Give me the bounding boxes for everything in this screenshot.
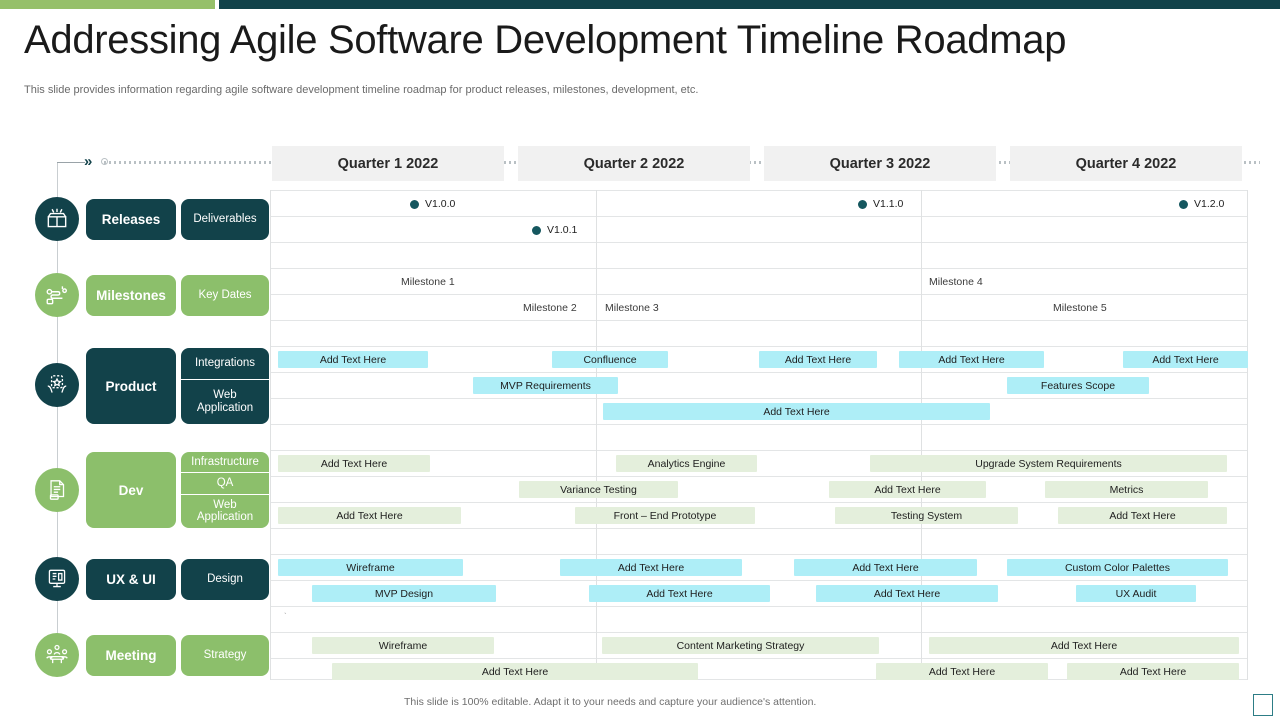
release-version-label: V1.2.0	[1194, 198, 1224, 210]
corner-placeholder-box[interactable]	[1253, 694, 1273, 716]
grid-row-line	[270, 476, 1248, 477]
category-label-releases[interactable]: Releases	[86, 199, 176, 240]
product-task-bar[interactable]: Add Text Here	[1123, 351, 1248, 368]
product-task-bar[interactable]: Add Text Here	[278, 351, 428, 368]
meeting-task-bar[interactable]: Wireframe	[312, 637, 494, 654]
grid-row-line	[270, 268, 1248, 269]
release-dot-icon	[532, 226, 541, 235]
release-dot-icon	[1179, 200, 1188, 209]
grid-row-line	[270, 450, 1248, 451]
meeting-task-bar[interactable]: Add Text Here	[876, 663, 1048, 680]
category-subs-ux-ui[interactable]: Design	[181, 559, 269, 600]
ux-task-bar[interactable]: Wireframe	[278, 559, 463, 576]
timeline-rail-horizontal	[57, 162, 85, 163]
release-dot-icon	[410, 200, 419, 209]
release-version-label: V1.0.1	[547, 224, 577, 236]
product-task-bar[interactable]: Features Scope	[1007, 377, 1149, 394]
dev-task-bar[interactable]: Metrics	[1045, 481, 1208, 498]
release-version-label: V1.0.0	[425, 198, 455, 210]
dev-task-bar[interactable]: Add Text Here	[1058, 507, 1227, 524]
grid-quarter-divider	[596, 190, 597, 680]
package-box-icon	[35, 197, 79, 241]
ux-task-bar[interactable]: Add Text Here	[560, 559, 742, 576]
sub-item: Web Application	[181, 379, 269, 424]
category-label-meeting[interactable]: Meeting	[86, 635, 176, 676]
dev-task-bar[interactable]: Add Text Here	[278, 455, 430, 472]
category-label-ux-ui[interactable]: UX & UI	[86, 559, 176, 600]
quarter-header-label: Quarter 1 2022	[338, 156, 439, 172]
category-subs-releases[interactable]: Deliverables	[181, 199, 269, 240]
dev-task-bar[interactable]: Add Text Here	[278, 507, 461, 524]
ux-task-bar[interactable]: Add Text Here	[589, 585, 770, 602]
release-marker[interactable]: V1.0.0	[410, 198, 455, 210]
quarter-header-1[interactable]: Quarter 1 2022	[272, 146, 504, 181]
quarter-header-2[interactable]: Quarter 2 2022	[518, 146, 750, 181]
meeting-task-bar[interactable]: Add Text Here	[332, 663, 698, 680]
footer-note: This slide is 100% editable. Adapt it to…	[404, 696, 816, 708]
milestone-label[interactable]: Milestone 2	[523, 302, 577, 314]
grid-row-line	[270, 216, 1248, 217]
product-task-bar[interactable]: Add Text Here	[603, 403, 990, 420]
quarter-header-3[interactable]: Quarter 3 2022	[764, 146, 996, 181]
grid-row-line	[270, 632, 1248, 633]
category-subs-dev[interactable]: Infrastructure QA Web Application	[181, 452, 269, 528]
sub-item: Infrastructure	[181, 452, 269, 472]
ux-screen-icon	[35, 557, 79, 601]
sub-item: Key Dates	[181, 275, 269, 316]
slide-root: Addressing Agile Software Development Ti…	[0, 0, 1280, 720]
grid-row-line	[270, 372, 1248, 373]
grid-row-line	[270, 190, 1248, 191]
dev-task-bar[interactable]: Variance Testing	[519, 481, 678, 498]
category-subs-meeting[interactable]: Strategy	[181, 635, 269, 676]
milestone-path-icon	[35, 273, 79, 317]
milestone-label[interactable]: Milestone 3	[605, 302, 659, 314]
ux-task-bar[interactable]: Add Text Here	[816, 585, 998, 602]
dev-document-icon	[35, 468, 79, 512]
grid-row-line	[270, 294, 1248, 295]
grid-row-line	[270, 320, 1248, 321]
product-care-icon	[35, 363, 79, 407]
sub-item: Web Application	[181, 494, 269, 528]
grid-row-line	[270, 346, 1248, 347]
sub-item: Deliverables	[181, 199, 269, 240]
product-task-bar[interactable]: Add Text Here	[899, 351, 1044, 368]
category-label-dev[interactable]: Dev	[86, 452, 176, 528]
grid-row-line	[270, 424, 1248, 425]
meeting-task-bar[interactable]: Add Text Here	[929, 637, 1239, 654]
category-name: UX & UI	[106, 572, 156, 587]
product-task-bar[interactable]: Confluence	[552, 351, 668, 368]
page-subtitle: This slide provides information regardin…	[24, 84, 698, 96]
meeting-task-bar[interactable]: Add Text Here	[1067, 663, 1239, 680]
category-name: Meeting	[105, 648, 156, 663]
release-marker[interactable]: V1.1.0	[858, 198, 903, 210]
top-accent-bar-dark	[219, 0, 1280, 9]
category-label-milestones[interactable]: Milestones	[86, 275, 176, 316]
grid-row-line	[270, 606, 1248, 607]
roadmap-grid: V1.0.0V1.0.1V1.1.0V1.2.0Milestone 1Miles…	[270, 190, 1248, 680]
grid-row-line	[270, 554, 1248, 555]
category-name: Milestones	[96, 288, 166, 303]
top-accent-bar-green	[0, 0, 215, 9]
page-title: Addressing Agile Software Development Ti…	[24, 18, 1066, 63]
meeting-people-icon	[35, 633, 79, 677]
dev-task-bar[interactable]: Testing System	[835, 507, 1018, 524]
quarter-header-4[interactable]: Quarter 4 2022	[1010, 146, 1242, 181]
grid-quarter-divider	[270, 190, 271, 680]
stray-mark: `	[284, 612, 287, 621]
dev-task-bar[interactable]: Add Text Here	[829, 481, 986, 498]
release-marker[interactable]: V1.2.0	[1179, 198, 1224, 210]
meeting-task-bar[interactable]: Content Marketing Strategy	[602, 637, 879, 654]
quarter-header-label: Quarter 4 2022	[1076, 156, 1177, 172]
dev-task-bar[interactable]: Upgrade System Requirements	[870, 455, 1227, 472]
sub-item: Strategy	[181, 635, 269, 676]
milestone-label[interactable]: Milestone 1	[401, 276, 455, 288]
grid-row-line	[270, 398, 1248, 399]
category-name: Dev	[119, 483, 144, 498]
ux-task-bar[interactable]: Custom Color Palettes	[1007, 559, 1228, 576]
milestone-label[interactable]: Milestone 4	[929, 276, 983, 288]
grid-row-line	[270, 580, 1248, 581]
release-marker[interactable]: V1.0.1	[532, 224, 577, 236]
category-label-product[interactable]: Product	[86, 348, 176, 424]
grid-quarter-divider	[1247, 190, 1248, 680]
category-name: Product	[105, 379, 156, 394]
category-name: Releases	[102, 212, 161, 227]
release-dot-icon	[858, 200, 867, 209]
product-task-bar[interactable]: MVP Requirements	[473, 377, 618, 394]
quarter-header-label: Quarter 2 2022	[584, 156, 685, 172]
release-version-label: V1.1.0	[873, 198, 903, 210]
grid-row-line	[270, 528, 1248, 529]
dev-task-bar[interactable]: Analytics Engine	[616, 455, 757, 472]
grid-row-line	[270, 242, 1248, 243]
ux-task-bar[interactable]: Add Text Here	[794, 559, 977, 576]
grid-row-line	[270, 502, 1248, 503]
category-subs-milestones[interactable]: Key Dates	[181, 275, 269, 316]
product-task-bar[interactable]: Add Text Here	[759, 351, 877, 368]
sub-item: Integrations	[181, 348, 269, 379]
sub-item: Design	[181, 559, 269, 600]
dev-task-bar[interactable]: Front – End Prototype	[575, 507, 755, 524]
double-chevron-right-icon: »	[84, 153, 92, 171]
milestone-label[interactable]: Milestone 5	[1053, 302, 1107, 314]
category-subs-product[interactable]: Integrations Web Application	[181, 348, 269, 424]
grid-row-line	[270, 658, 1248, 659]
ux-task-bar[interactable]: UX Audit	[1076, 585, 1196, 602]
grid-quarter-divider	[921, 190, 922, 680]
ux-task-bar[interactable]: MVP Design	[312, 585, 496, 602]
quarter-header-label: Quarter 3 2022	[830, 156, 931, 172]
sub-item: QA	[181, 472, 269, 493]
